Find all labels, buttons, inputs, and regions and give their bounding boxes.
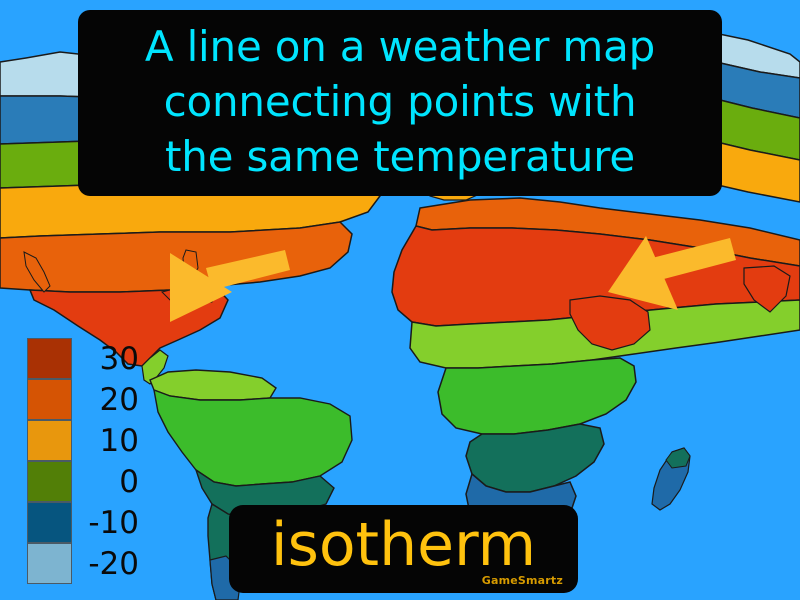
watermark-label: GameSmartz [482,574,563,587]
legend-swatch-30 [27,338,72,379]
flashcard-image: 30 20 10 0 -10 -20 A line on a weather m… [0,0,800,600]
legend-swatch-minus20 [27,543,72,584]
definition-line-1: A line on a weather map [145,19,655,74]
legend-swatch-20 [27,379,72,420]
definition-banner: A line on a weather map connecting point… [78,10,722,196]
legend-label-0: 0 [77,463,139,501]
definition-line-3: the same temperature [165,129,635,184]
legend-swatch-minus10 [27,502,72,543]
legend-label-minus10: -10 [77,504,139,542]
legend-label-minus20: -20 [77,545,139,583]
legend-label-30: 30 [77,340,139,378]
legend-label-20: 20 [77,381,139,419]
legend-swatch-0 [27,461,72,502]
definition-line-2: connecting points with [164,74,637,129]
term-banner: isotherm GameSmartz [229,505,578,593]
legend-swatch-10 [27,420,72,461]
legend-label-10: 10 [77,422,139,460]
